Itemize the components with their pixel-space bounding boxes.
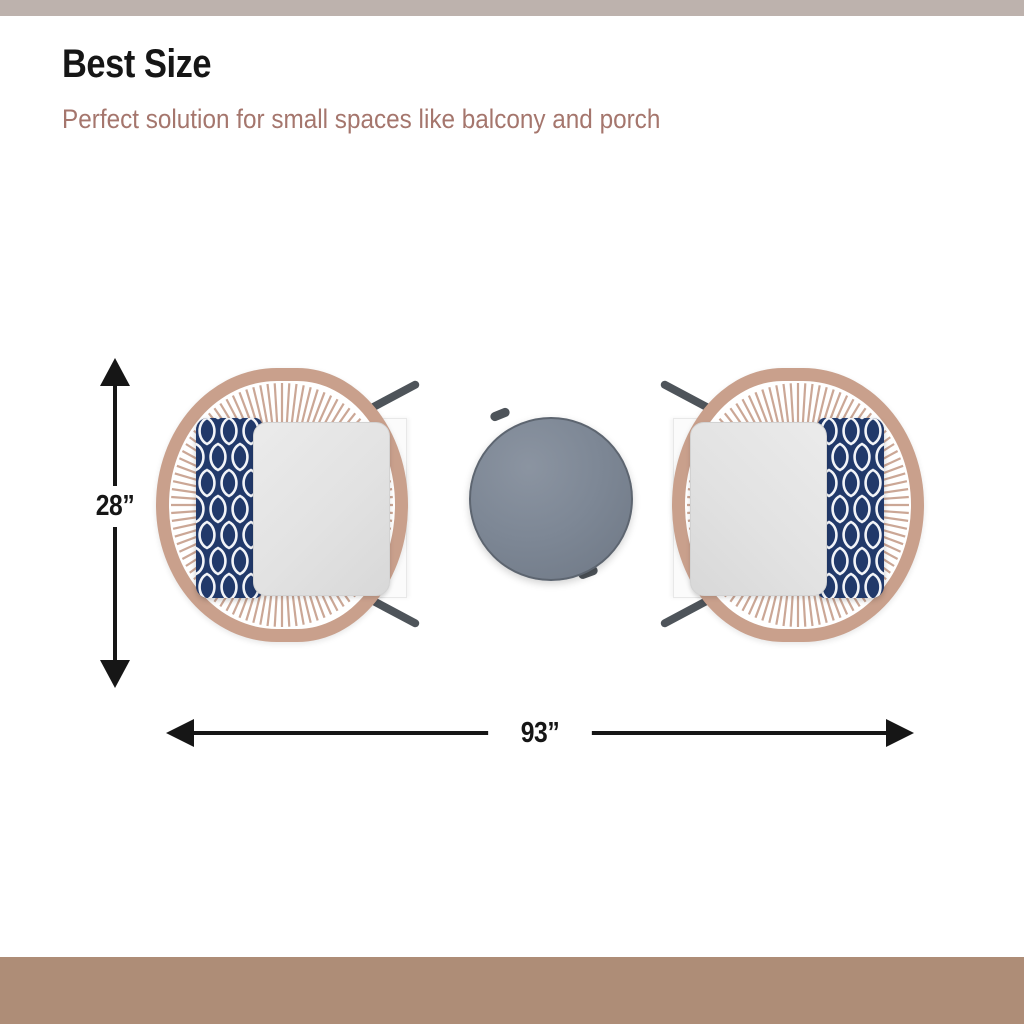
bistro-table [460, 408, 638, 586]
arrow-left-icon [166, 719, 194, 747]
bottom-accent-band [0, 957, 1024, 1024]
arrow-down-icon [100, 660, 130, 688]
chair-right [650, 360, 930, 650]
chair-right-pillow [818, 418, 884, 598]
chair-left [150, 360, 430, 650]
infographic-page: Best Size Perfect solution for small spa… [0, 0, 1024, 1024]
width-dimension-label: 93” [488, 712, 592, 755]
table-leg-1 [489, 407, 511, 423]
page-title: Best Size [62, 44, 211, 84]
table-glass-top [469, 417, 633, 581]
arrow-right-icon [886, 719, 914, 747]
chair-left-seat-cushion [253, 422, 390, 596]
width-dimension: 93” [166, 712, 914, 754]
chair-right-pillow-pattern-icon [818, 418, 884, 598]
product-scene [140, 360, 940, 660]
chair-right-seat-cushion [690, 422, 827, 596]
arrow-up-icon [100, 358, 130, 386]
height-dimension: 28” [90, 358, 140, 688]
top-accent-band [0, 0, 1024, 16]
page-subtitle: Perfect solution for small spaces like b… [62, 104, 660, 135]
